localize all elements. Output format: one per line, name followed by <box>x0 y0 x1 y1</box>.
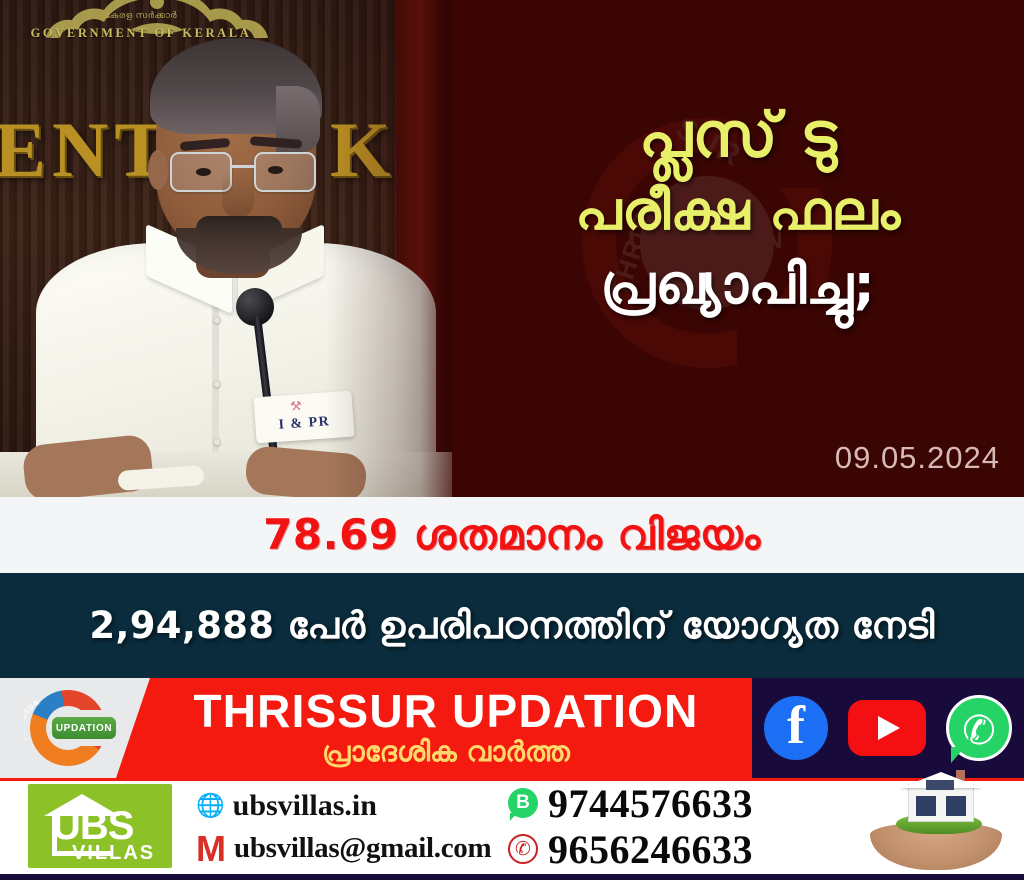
house-window-left <box>916 796 936 816</box>
house-in-hands-image <box>852 778 1020 872</box>
logo-updation-badge: UPDATION <box>52 717 116 739</box>
news-card: കേരള സർക്കാർ GOVERNMENT OF KERALA ENT KE <box>0 0 1024 880</box>
photo-edge-gradient <box>0 0 452 497</box>
contact-block: 🌐 ubsvillas.in M ubsvillas@gmail.com <box>196 784 516 870</box>
website-text: ubsvillas.in <box>233 789 377 823</box>
ubs-logo-sub: VILLAS <box>72 842 168 865</box>
social-icons-panel <box>752 678 1024 778</box>
hero-section: കേരള സർക്കാർ GOVERNMENT OF KERALA ENT KE <box>0 0 1024 497</box>
email-row[interactable]: M ubsvillas@gmail.com <box>196 827 516 870</box>
gmail-icon: M <box>196 831 226 867</box>
phone-row-call[interactable]: 9656246633 <box>508 826 868 872</box>
whatsapp-business-icon <box>508 788 538 818</box>
footer-bottom-bar <box>0 874 1024 880</box>
phone-block: 9744576633 9656246633 <box>508 780 868 872</box>
brand-title: THRISSUR UPDATION <box>156 684 736 738</box>
headline-line-1: പ്ലസ് ടു <box>639 98 837 171</box>
headline-line-3: പ്രഖ്യാപിച്ചു; <box>600 253 875 317</box>
publication-date: 09.05.2024 <box>440 440 1000 476</box>
logo-badge-label: UPDATION <box>56 723 112 734</box>
advertiser-footer: UBS VILLAS 🌐 ubsvillas.in M ubsvillas@gm… <box>0 778 1024 874</box>
thrissur-updation-logo[interactable]: THRISSUR UPDATION <box>22 684 112 772</box>
headline-block: പ്ലസ് ടു പരീക്ഷ ഫലം പ്രഖ്യാപിച്ചു; <box>452 0 1024 440</box>
phone-number-call: 9656246633 <box>548 826 753 873</box>
phone-row-whatsapp[interactable]: 9744576633 <box>508 780 868 826</box>
brand-subtitle: പ്രാദേശിക വാർത്ത <box>156 735 736 769</box>
website-row[interactable]: 🌐 ubsvillas.in <box>196 784 516 827</box>
brand-bar: THRISSUR UPDATION THRISSUR UPDATION പ്രാ… <box>0 678 1024 778</box>
logo-curved-label: THRISSUR <box>24 699 42 743</box>
facebook-icon[interactable] <box>764 696 828 760</box>
svg-text:THRISSUR: THRISSUR <box>24 699 42 743</box>
eligibility-text: 2,94,888 പേർ ഉപരിപഠനത്തിന് യോഗ്യത നേടി <box>89 604 934 648</box>
house-window-right <box>946 796 966 816</box>
headline-line-2: പരീക്ഷ ഫലം <box>575 179 901 243</box>
globe-icon: 🌐 <box>196 792 225 819</box>
ubs-villas-logo[interactable]: UBS VILLAS <box>28 784 172 868</box>
whatsapp-icon[interactable] <box>946 695 1012 761</box>
phone-icon <box>508 834 538 864</box>
youtube-icon[interactable] <box>848 700 926 756</box>
email-text: ubsvillas@gmail.com <box>234 832 491 865</box>
phone-number-whatsapp: 9744576633 <box>548 780 753 827</box>
press-conference-photo: കേരള സർക്കാർ GOVERNMENT OF KERALA ENT KE <box>0 0 452 497</box>
pass-percentage-strip: 78.69 ശതമാനം വിജയം <box>0 497 1024 573</box>
pass-percentage-text: 78.69 ശതമാനം വിജയം <box>263 510 761 560</box>
house-attic-window <box>926 780 954 790</box>
eligibility-strip: 2,94,888 പേർ ഉപരിപഠനത്തിന് യോഗ്യത നേടി <box>0 573 1024 678</box>
